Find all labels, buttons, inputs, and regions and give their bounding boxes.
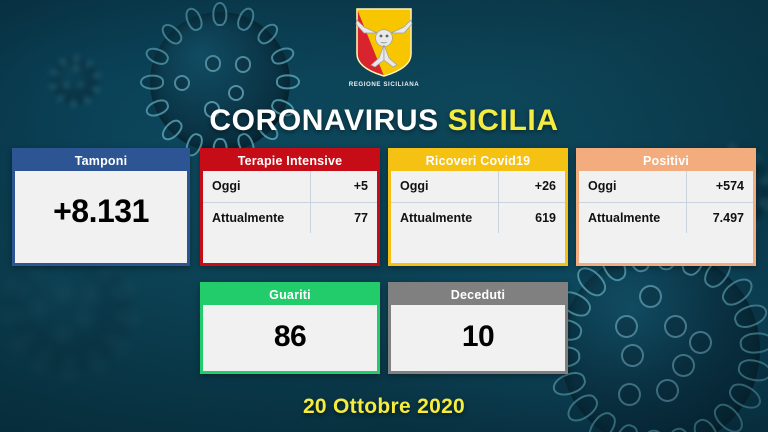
stat-card-ricoveri-covid19: Ricoveri Covid19 Oggi +26 Attualmente 61…: [388, 148, 568, 266]
row-label-attualmente: Attualmente: [203, 202, 311, 233]
stat-card-tamponi-title: Tamponi: [15, 151, 187, 171]
row-value-oggi: +26: [499, 171, 565, 202]
row-value-oggi: +5: [311, 171, 377, 202]
logo-caption: REGIONE SICILIANA: [349, 81, 420, 88]
stat-card-terapie-intensive: Terapie Intensive Oggi +5 Attualmente 77: [200, 148, 380, 266]
row-label-attualmente: Attualmente: [391, 202, 499, 233]
stat-card-guariti-body: 86: [203, 305, 377, 369]
stat-card-guariti-title: Guariti: [203, 285, 377, 305]
stat-table-terapie: Oggi +5 Attualmente 77: [203, 171, 377, 233]
stat-card-deceduti-body: 10: [391, 305, 565, 369]
stat-card-tamponi-value: +8.131: [15, 171, 187, 251]
report-date: 20 Ottobre 2020: [0, 395, 768, 419]
page-title: CORONAVIRUS SICILIA: [0, 104, 768, 138]
stat-card-guariti-value: 86: [203, 305, 377, 369]
stat-card-ricoveri-body: Oggi +26 Attualmente 619: [391, 171, 565, 233]
row-label-attualmente: Attualmente: [579, 202, 687, 233]
table-row: Oggi +5: [203, 171, 377, 202]
stat-table-ricoveri: Oggi +26 Attualmente 619: [391, 171, 565, 233]
stat-card-tamponi: Tamponi +8.131: [12, 148, 190, 266]
row-label-oggi: Oggi: [391, 171, 499, 202]
table-row: Oggi +26: [391, 171, 565, 202]
trinacria-shield-icon: [353, 6, 415, 78]
row-value-attualmente: 77: [311, 202, 377, 233]
stat-card-deceduti-title: Deceduti: [391, 285, 565, 305]
stat-card-deceduti: Deceduti 10: [388, 282, 568, 374]
stat-card-terapie-title: Terapie Intensive: [203, 151, 377, 171]
stat-card-ricoveri-title: Ricoveri Covid19: [391, 151, 565, 171]
row-value-oggi: +574: [687, 171, 753, 202]
stat-card-tamponi-body: +8.131: [15, 171, 187, 251]
row-value-attualmente: 7.497: [687, 202, 753, 233]
title-highlight: SICILIA: [448, 104, 559, 137]
stat-table-positivi: Oggi +574 Attualmente 7.497: [579, 171, 753, 233]
table-row: Attualmente 7.497: [579, 202, 753, 233]
regione-siciliana-logo: REGIONE SICILIANA: [0, 6, 768, 88]
row-label-oggi: Oggi: [203, 171, 311, 202]
stat-card-terapie-body: Oggi +5 Attualmente 77: [203, 171, 377, 233]
row-value-attualmente: 619: [499, 202, 565, 233]
title-main: CORONAVIRUS: [209, 104, 438, 137]
table-row: Attualmente 77: [203, 202, 377, 233]
stat-card-guariti: Guariti 86: [200, 282, 380, 374]
table-row: Attualmente 619: [391, 202, 565, 233]
stat-card-deceduti-value: 10: [391, 305, 565, 369]
stat-card-positivi-body: Oggi +574 Attualmente 7.497: [579, 171, 753, 233]
stat-card-positivi: Positivi Oggi +574 Attualmente 7.497: [576, 148, 756, 266]
stat-card-positivi-title: Positivi: [579, 151, 753, 171]
row-label-oggi: Oggi: [579, 171, 687, 202]
table-row: Oggi +574: [579, 171, 753, 202]
